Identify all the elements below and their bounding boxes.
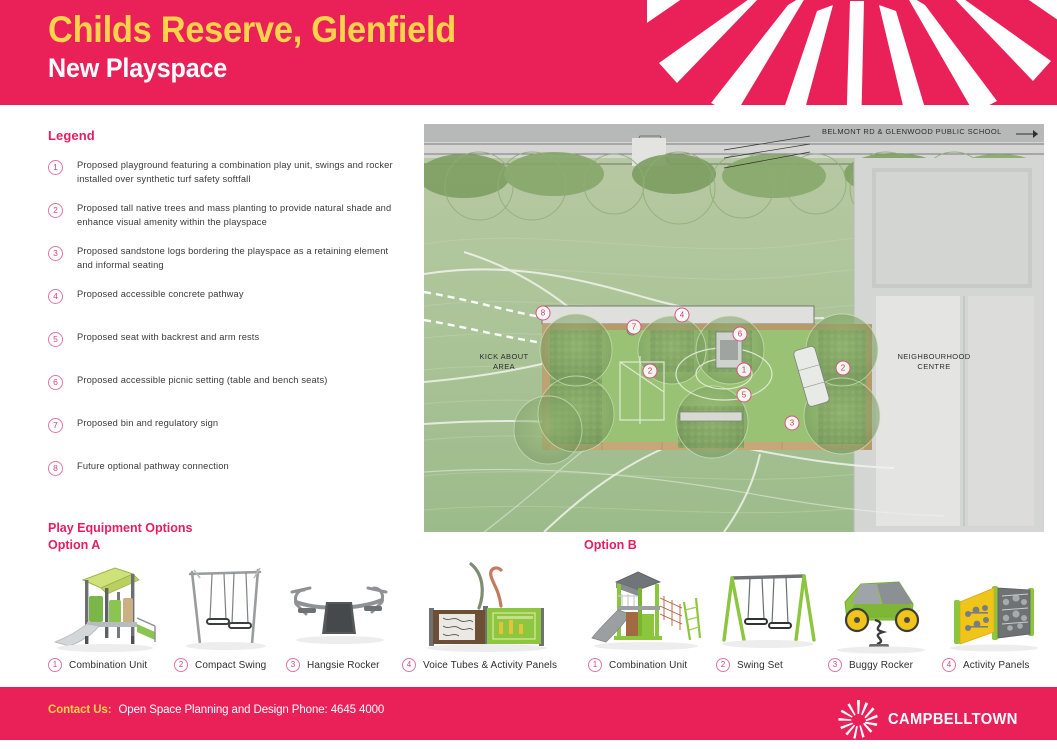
equip-number-b3: 3 [828,658,842,672]
map-marker-3[interactable]: 3 [785,416,800,431]
legend-item-5: 5 Proposed seat with backrest and arm re… [48,331,416,361]
option-b-items: 1 Combination Unit [584,556,1048,682]
map-marker-4[interactable]: 4 [675,308,690,323]
map-marker-1[interactable]: 1 [737,363,752,378]
page-footer: Contact Us: Open Space Planning and Desi… [0,687,1057,740]
page-header: Childs Reserve, Glenfield New Playspace [0,0,1057,105]
equip-label-a4: Voice Tubes & Activity Panels [423,660,557,671]
swing-set-image [712,556,824,654]
equip-number-a3: 3 [286,658,300,672]
legend-item-8: 8 Future optional pathway connection [48,460,416,490]
legend-number-1: 1 [48,160,63,175]
equip-item-b4[interactable]: 4 Activity Panels [938,556,1048,682]
option-a-label: Option A [48,538,100,552]
combination-unit-a-image [44,556,170,654]
equip-label-b2: Swing Set [737,660,783,671]
contact-details-text: Open Space Planning and Design Phone: 46… [118,704,384,716]
page-title: Childs Reserve, Glenfield [48,8,456,52]
legend-item-2: 2 Proposed tall native trees and mass pl… [48,202,416,232]
site-plan-map: BELMONT RD & GLENWOOD PUBLIC SCHOOL KICK… [424,124,1044,532]
equip-item-b3[interactable]: 3 Buggy Rocker [824,556,938,682]
legend-text-2: Proposed tall native trees and mass plan… [77,202,406,230]
contact-us-label: Contact Us: [48,704,111,716]
activity-panels-image [938,556,1048,654]
legend-number-7: 7 [48,418,63,433]
buggy-rocker-image [824,556,938,654]
equip-label-b3: Buggy Rocker [849,660,913,671]
legend-item-1: 1 Proposed playground featuring a combin… [48,159,416,189]
legend-text-3: Proposed sandstone logs bordering the pl… [77,245,406,273]
equip-number-b1: 1 [588,658,602,672]
equip-label-a3: Hangsie Rocker [307,660,380,671]
equip-caption-b1: 1 Combination Unit [584,654,712,676]
equip-number-a4: 4 [402,658,416,672]
equip-caption-a1: 1 Combination Unit [44,654,170,676]
legend-text-7: Proposed bin and regulatory sign [77,417,406,431]
legend-number-4: 4 [48,289,63,304]
equip-label-b4: Activity Panels [963,660,1030,671]
equip-number-b4: 4 [942,658,956,672]
legend-item-3: 3 Proposed sandstone logs bordering the … [48,245,416,275]
equip-caption-a3: 3 Hangsie Rocker [282,654,398,676]
map-marker-5[interactable]: 5 [737,388,752,403]
equip-number-a2: 2 [174,658,188,672]
legend-number-3: 3 [48,246,63,261]
page-subtitle: New Playspace [48,52,456,84]
voice-tubes-panels-image [398,556,580,654]
legend-text-1: Proposed playground featuring a combinat… [77,159,406,187]
legend-item-4: 4 Proposed accessible concrete pathway [48,288,416,318]
starburst-logo-icon [836,698,880,742]
equip-item-b2[interactable]: 2 Swing Set [712,556,824,682]
starburst-icon [647,0,1057,105]
equip-item-a4[interactable]: 4 Voice Tubes & Activity Panels [398,556,580,682]
contact-block: Contact Us: Open Space Planning and Desi… [48,704,384,716]
equip-caption-b3: 3 Buggy Rocker [824,654,938,676]
option-a-items: 1 Combination Unit [44,556,580,682]
equip-caption-b2: 2 Swing Set [712,654,824,676]
legend-text-4: Proposed accessible concrete pathway [77,288,406,302]
map-marker-7[interactable]: 7 [627,320,642,335]
equip-item-a3[interactable]: 3 Hangsie Rocker [282,556,398,682]
legend-text-8: Future optional pathway connection [77,460,406,474]
map-marker-2-right[interactable]: 2 [836,361,851,376]
poster-page: Childs Reserve, Glenfield New Playspace … [0,0,1057,749]
header-titles: Childs Reserve, Glenfield New Playspace [48,8,487,84]
equip-item-b1[interactable]: 1 Combination Unit [584,556,712,682]
legend-title: Legend [48,128,416,143]
legend-text-5: Proposed seat with backrest and arm rest… [77,331,406,345]
legend-text-6: Proposed accessible picnic setting (tabl… [77,374,406,388]
equip-item-a1[interactable]: 1 Combination Unit [44,556,170,682]
legend-panel: Legend 1 Proposed playground featuring a… [48,128,416,503]
option-b-label: Option B [584,538,637,552]
equip-label-b1: Combination Unit [609,660,687,671]
map-marker-8[interactable]: 8 [536,306,551,321]
equip-number-a1: 1 [48,658,62,672]
legend-number-8: 8 [48,461,63,476]
hangsie-rocker-image [282,556,398,654]
equip-item-a2[interactable]: 2 Compact Swing [170,556,282,682]
campbelltown-logo[interactable]: CAMPBELLTOWN [836,698,1029,742]
map-marker-6[interactable]: 6 [733,327,748,342]
legend-item-6: 6 Proposed accessible picnic setting (ta… [48,374,416,404]
legend-number-5: 5 [48,332,63,347]
legend-number-2: 2 [48,203,63,218]
campbelltown-wordmark: CAMPBELLTOWN [888,711,1018,729]
equip-caption-b4: 4 Activity Panels [938,654,1048,676]
legend-number-6: 6 [48,375,63,390]
legend-item-7: 7 Proposed bin and regulatory sign [48,417,416,447]
equip-label-a1: Combination Unit [69,660,147,671]
map-marker-2-left[interactable]: 2 [643,364,658,379]
equip-label-a2: Compact Swing [195,660,266,671]
equip-caption-a2: 2 Compact Swing [170,654,282,676]
play-equipment-heading: Play Equipment Options [48,520,192,536]
combination-unit-b-image [584,556,712,654]
equip-caption-a4: 4 Voice Tubes & Activity Panels [398,654,580,676]
equip-number-b2: 2 [716,658,730,672]
compact-swing-image [170,556,282,654]
